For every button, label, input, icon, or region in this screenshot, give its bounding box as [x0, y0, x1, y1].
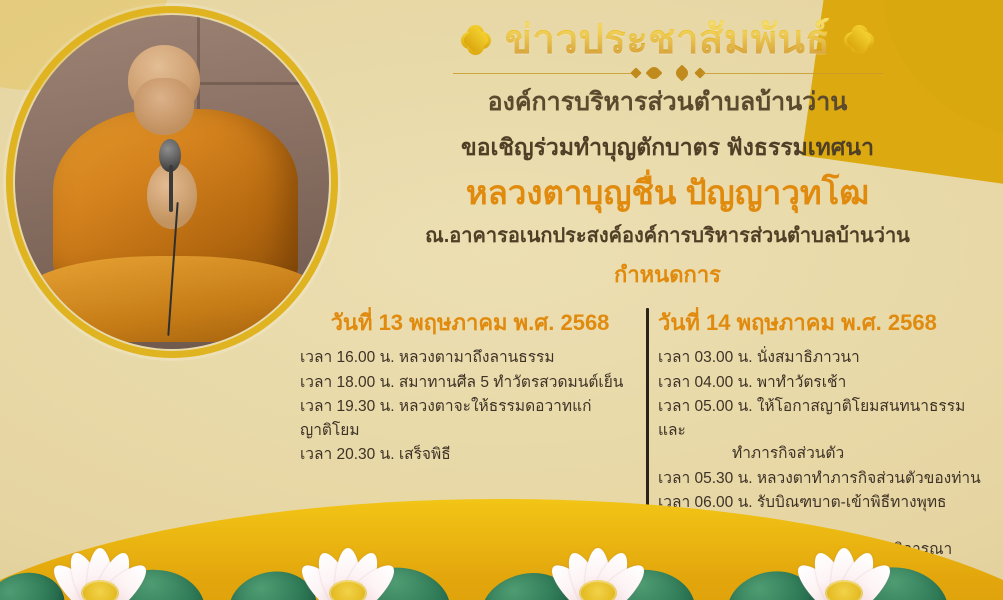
schedule-heading: กำหนดการ [345, 257, 990, 292]
lotus-decoration-band [0, 464, 1003, 600]
lotus-flower [786, 524, 902, 600]
lotus-center [579, 580, 617, 600]
lotus-center [81, 580, 119, 600]
schedule-date-day2: วันที่ 14 พฤษภาคม พ.ศ. 2568 [658, 305, 990, 340]
poster-header: ข่าวประชาสัมพันธ์ องค์การบริหารส่วนตำบลบ… [345, 18, 990, 292]
schedule-item: เวลา 05.00 น. ให้โอกาสญาติโยมสนทนาธรรมแล… [658, 395, 990, 466]
schedule-item: เวลา 04.00 น. พาทำวัตรเช้า [658, 371, 990, 395]
lotus-flower [290, 524, 406, 600]
schedule-item-text: เวลา 20.30 น. เสร็จพิธี [300, 446, 451, 463]
invitation-line: ขอเชิญร่วมทำบุญตักบาตร ฟังธรรมเทศนา [345, 130, 990, 165]
schedule-column-day1: วันที่ 13 พฤษภาคม พ.ศ. 2568 เวลา 16.00 น… [300, 305, 640, 468]
monk-name: หลวงตาบุญชื่น ปัญญาวุทโฒ [345, 171, 990, 216]
schedule-item-text: เวลา 05.00 น. ให้โอกาสญาติโยมสนทนาธรรมแล… [658, 398, 965, 439]
monk-portrait [6, 6, 338, 358]
lotus-flower [42, 524, 158, 600]
flower-ornament-icon [844, 25, 874, 55]
schedule-item-text: เวลา 18.00 น. สมาทานศีล 5 ทำวัตรสวดมนต์เ… [300, 374, 623, 391]
lotus-center [825, 580, 863, 600]
schedule-item: เวลา 03.00 น. นั่งสมาธิภาวนา [658, 346, 990, 370]
ornate-divider [453, 66, 883, 80]
schedule-item: เวลา 19.30 น. หลวงตาจะให้ธรรมดอวาทแก่ญาต… [300, 395, 640, 442]
schedule-item-text: เวลา 16.00 น. หลวงตามาถึงลานธรรม [300, 349, 555, 366]
flower-ornament-icon [461, 25, 491, 55]
schedule-date-day1: วันที่ 13 พฤษภาคม พ.ศ. 2568 [300, 305, 640, 340]
poster-canvas: ข่าวประชาสัมพันธ์ องค์การบริหารส่วนตำบลบ… [0, 0, 1003, 600]
portrait-gold-ring [6, 6, 338, 358]
schedule-item: เวลา 16.00 น. หลวงตามาถึงลานธรรม [300, 346, 640, 370]
schedule-item-text: เวลา 04.00 น. พาทำวัตรเช้า [658, 374, 846, 391]
schedule-item-text: เวลา 19.30 น. หลวงตาจะให้ธรรมดอวาทแก่ญาต… [300, 398, 591, 439]
schedule-item-continuation: ทำภารกิจส่วนตัว [658, 442, 990, 466]
schedule-item: เวลา 18.00 น. สมาทานศีล 5 ทำวัตรสวดมนต์เ… [300, 371, 640, 395]
venue-line: ณ.อาคารอเนกประสงค์องค์การบริหารส่วนตำบลบ… [345, 222, 990, 251]
title-row: ข่าวประชาสัมพันธ์ [345, 18, 990, 63]
schedule-item-text: เวลา 03.00 น. นั่งสมาธิภาวนา [658, 349, 860, 366]
lotus-center [329, 580, 367, 600]
lotus-flower [540, 524, 656, 600]
organization-name: องค์การบริหารส่วนตำบลบ้านว่าน [345, 84, 990, 122]
page-title: ข่าวประชาสัมพันธ์ [505, 18, 831, 63]
